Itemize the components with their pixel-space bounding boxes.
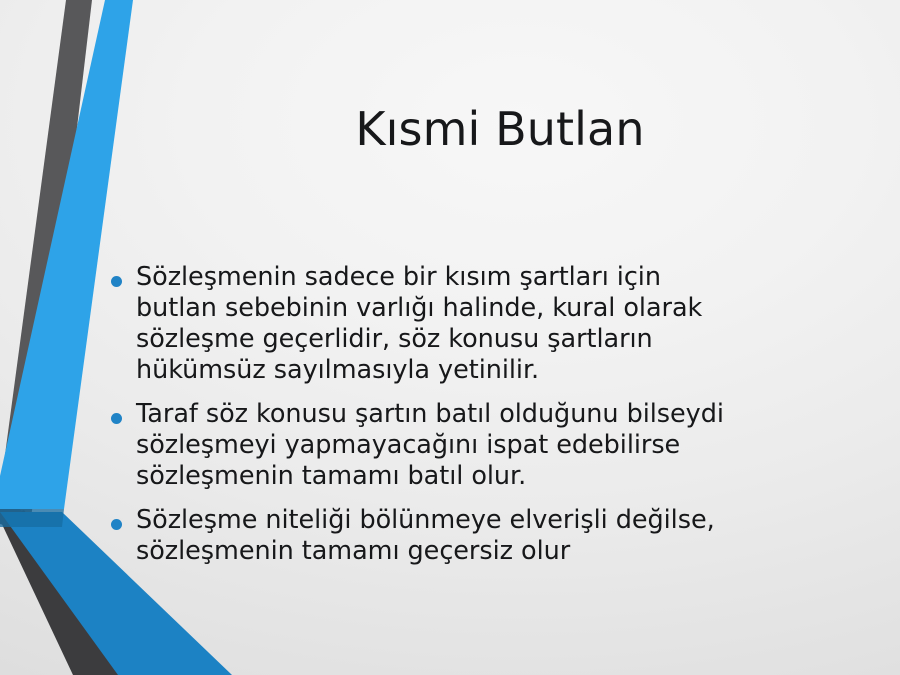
dark-gray-stripe-vertex-shadow: [0, 492, 31, 531]
list-item: Sözleşmenin sadece bir kısım şartları iç…: [104, 262, 846, 386]
bullet-dot-icon: [111, 276, 122, 287]
bullet-dot-icon: [111, 519, 122, 530]
list-item-text: Sözleşmenin sadece bir kısım şartları iç…: [136, 262, 846, 386]
bullet-dot-icon: [111, 413, 122, 424]
list-item: Taraf söz konusu şartın batıl olduğunu b…: [104, 399, 846, 492]
list-item-text: Taraf söz konusu şartın batıl olduğunu b…: [136, 399, 846, 492]
presentation-slide: Kısmi Butlan Sözleşmenin sadece bir kısı…: [0, 0, 900, 675]
dark-gray-stripe-upper: [0, 0, 92, 519]
slide-title: Kısmi Butlan: [150, 104, 850, 156]
list-item: Sözleşme niteliği bölünmeye elverişli de…: [104, 505, 846, 567]
list-item-text: Sözleşme niteliği bölünmeye elverişli de…: [136, 505, 846, 567]
slide-body: Sözleşmenin sadece bir kısım şartları iç…: [104, 262, 846, 567]
blue-stripe-vertex-shadow: [0, 509, 64, 527]
